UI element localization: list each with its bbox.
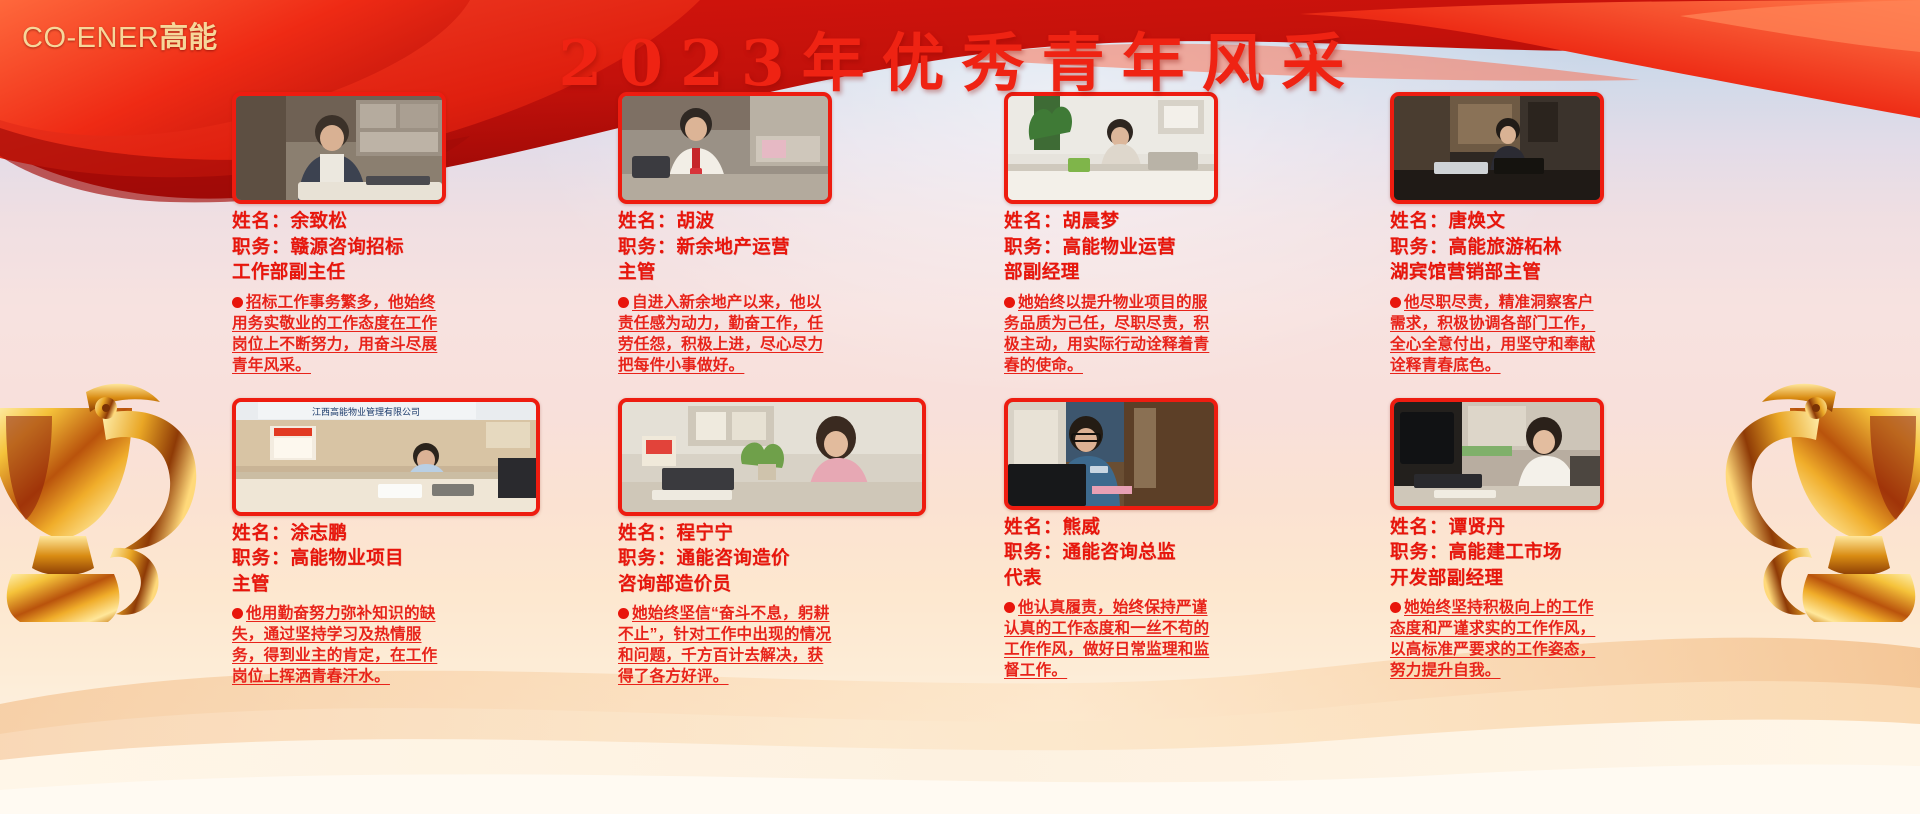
profile-meta: 姓名：胡波 职务：新余地产运营 主管 自进入新余地产以来，他以责任感为动力，勤奋… bbox=[618, 208, 918, 376]
profile-position-line-1: 职务：通能咨询造价 bbox=[618, 545, 918, 571]
profile-name: 胡波 bbox=[677, 210, 715, 231]
profile-position-part-1: 高能旅游柘林 bbox=[1449, 236, 1562, 257]
profile-card: 姓名：熊威 职务：通能咨询总监 代表 他认真履责，始终保持严谨认真的工作态度和一… bbox=[1004, 398, 1304, 688]
profile-description-text: 她始终坚持积极向上的工作态度和严谨求实的工作作风，以高标准严要求的工作姿态，努力… bbox=[1390, 599, 1595, 679]
profile-photo bbox=[618, 92, 832, 204]
profile-name-line: 姓名：谭贤丹 bbox=[1390, 514, 1690, 540]
profile-name: 谭贤丹 bbox=[1449, 516, 1506, 537]
profile-position-line-2: 代表 bbox=[1004, 565, 1304, 591]
bullet-icon bbox=[1390, 297, 1401, 308]
profile-position-line-2: 咨询部造价员 bbox=[618, 571, 918, 597]
profile-card: 姓名：胡晨梦 职务：高能物业运营 部副经理 她始终以提升物业项目的服务品质为己任… bbox=[1004, 92, 1304, 376]
position-label: 职务： bbox=[232, 236, 291, 257]
profile-position-part-1: 新余地产运营 bbox=[677, 236, 790, 257]
name-label: 姓名： bbox=[618, 522, 677, 543]
profile-card: 姓名：胡波 职务：新余地产运营 主管 自进入新余地产以来，他以责任感为动力，勤奋… bbox=[618, 92, 918, 376]
profile-card: 姓名：谭贤丹 职务：高能建工市场 开发部副经理 她始终坚持积极向上的工作态度和严… bbox=[1390, 398, 1690, 688]
profile-meta: 姓名：胡晨梦 职务：高能物业运营 部副经理 她始终以提升物业项目的服务品质为己任… bbox=[1004, 208, 1304, 376]
bullet-icon bbox=[232, 608, 243, 619]
profile-name: 熊威 bbox=[1063, 516, 1101, 537]
profile-photo bbox=[618, 398, 926, 516]
page-title: 2023年优秀青年风采 bbox=[0, 13, 1920, 104]
position-label: 职务： bbox=[1390, 541, 1449, 562]
trophy-left-icon bbox=[0, 330, 212, 635]
profile-position-line-2: 部副经理 bbox=[1004, 259, 1304, 285]
profile-description: 她始终坚信“奋斗不息，躬耕不止”，针对工作中出现的情况和问题，千方百计去解决，获… bbox=[618, 603, 836, 687]
profile-name-line: 姓名：程宁宁 bbox=[618, 520, 918, 546]
profile-name: 余致松 bbox=[291, 210, 348, 231]
profile-position-part-1: 通能咨询造价 bbox=[677, 547, 790, 568]
profile-position-part-1: 高能建工市场 bbox=[1449, 541, 1562, 562]
profile-description-text: 她始终坚信“奋斗不息，躬耕不止”，针对工作中出现的情况和问题，千方百计去解决，获… bbox=[618, 605, 831, 685]
profile-meta: 姓名：余致松 职务：赣源咨询招标 工作部副主任 招标工作事务繁多，他始终用务实敬… bbox=[232, 208, 532, 376]
profile-name-line: 姓名：余致松 bbox=[232, 208, 532, 234]
profile-position-part-1: 赣源咨询招标 bbox=[291, 236, 404, 257]
profile-name-line: 姓名：胡波 bbox=[618, 208, 918, 234]
profile-position-line-2: 开发部副经理 bbox=[1390, 565, 1690, 591]
bullet-icon bbox=[232, 297, 243, 308]
profile-meta: 姓名：涂志鹏 职务：高能物业项目 主管 他用勤奋努力弥补知识的缺失，通过坚持学习… bbox=[232, 520, 532, 688]
profile-position-line-2: 湖宾馆营销部主管 bbox=[1390, 259, 1690, 285]
profile-position-line-1: 职务：赣源咨询招标 bbox=[232, 234, 532, 260]
profile-photo: 江西高能物业管理有限公司 bbox=[232, 398, 540, 516]
brand-logo-latin: CO-ENER bbox=[22, 22, 159, 54]
profile-photo bbox=[1390, 398, 1604, 510]
position-label: 职务： bbox=[618, 236, 677, 257]
profile-description: 她始终以提升物业项目的服务品质为己任，尽职尽责，积极主动，用实际行动诠释着青春的… bbox=[1004, 292, 1222, 376]
name-label: 姓名： bbox=[232, 522, 291, 543]
profile-description: 他认真履责，始终保持严谨认真的工作态度和一丝不苟的工作作风，做好日常监理和监督工… bbox=[1004, 597, 1222, 681]
profile-position-part-1: 通能咨询总监 bbox=[1063, 541, 1176, 562]
name-label: 姓名： bbox=[1004, 210, 1063, 231]
profile-photo bbox=[1390, 92, 1604, 204]
profile-meta: 姓名：程宁宁 职务：通能咨询造价 咨询部造价员 她始终坚信“奋斗不息，躬耕不止”… bbox=[618, 520, 918, 688]
profile-name-line: 姓名：熊威 bbox=[1004, 514, 1304, 540]
position-label: 职务： bbox=[1004, 236, 1063, 257]
brand-logo: CO-ENER高能 bbox=[22, 14, 217, 56]
profile-description-text: 他用勤奋努力弥补知识的缺失，通过坚持学习及热情服务，得到业主的肯定，在工作岗位上… bbox=[232, 605, 437, 685]
profile-photo bbox=[1004, 398, 1218, 510]
profile-description: 招标工作事务繁多，他始终用务实敬业的工作态度在工作岗位上不断努力，用奋斗尽展青年… bbox=[232, 292, 450, 376]
profile-photo bbox=[232, 92, 446, 204]
profile-position-line-2: 工作部副主任 bbox=[232, 259, 532, 285]
profile-position-line-2: 主管 bbox=[232, 571, 532, 597]
profile-name: 胡晨梦 bbox=[1063, 210, 1120, 231]
profile-position-line-1: 职务：新余地产运营 bbox=[618, 234, 918, 260]
profile-meta: 姓名：谭贤丹 职务：高能建工市场 开发部副经理 她始终坚持积极向上的工作态度和严… bbox=[1390, 514, 1690, 682]
bullet-icon bbox=[618, 297, 629, 308]
profile-description-text: 自进入新余地产以来，他以责任感为动力，勤奋工作，任劳任怨，积极上进，尽心尽力把每… bbox=[618, 294, 823, 374]
profile-meta: 姓名：唐焕文 职务：高能旅游柘林 湖宾馆营销部主管 他尽职尽责，精准洞察客户需求… bbox=[1390, 208, 1690, 376]
profile-position-line-1: 职务：高能物业项目 bbox=[232, 545, 532, 571]
name-label: 姓名： bbox=[618, 210, 677, 231]
profile-position-part-1: 高能物业项目 bbox=[291, 547, 404, 568]
profile-description-text: 他尽职尽责，精准洞察客户需求，积极协调各部门工作，全心全意付出，用坚守和奉献诠释… bbox=[1390, 294, 1595, 374]
name-label: 姓名： bbox=[232, 210, 291, 231]
profile-card: 姓名：程宁宁 职务：通能咨询造价 咨询部造价员 她始终坚信“奋斗不息，躬耕不止”… bbox=[618, 398, 918, 688]
position-label: 职务： bbox=[1004, 541, 1063, 562]
name-label: 姓名： bbox=[1390, 210, 1449, 231]
bullet-icon bbox=[1004, 297, 1015, 308]
bullet-icon bbox=[1004, 602, 1015, 613]
position-label: 职务： bbox=[232, 547, 291, 568]
profile-position-line-2: 主管 bbox=[618, 259, 918, 285]
name-label: 姓名： bbox=[1004, 516, 1063, 537]
profile-description: 他尽职尽责，精准洞察客户需求，积极协调各部门工作，全心全意付出，用坚守和奉献诠释… bbox=[1390, 292, 1608, 376]
trophy-right-icon bbox=[1710, 330, 1920, 635]
profile-name: 程宁宁 bbox=[677, 522, 734, 543]
profile-description-text: 她始终以提升物业项目的服务品质为己任，尽职尽责，积极主动，用实际行动诠释着青春的… bbox=[1004, 294, 1209, 374]
profile-description-text: 他认真履责，始终保持严谨认真的工作态度和一丝不苟的工作作风，做好日常监理和监督工… bbox=[1004, 599, 1209, 679]
poster-canvas: CO-ENER高能 2023年优秀青年风采 bbox=[0, 0, 1920, 814]
profile-card: 江西高能物业管理有限公司 姓名 bbox=[232, 398, 532, 688]
profile-photo bbox=[1004, 92, 1218, 204]
profile-name: 唐焕文 bbox=[1449, 210, 1506, 231]
profile-position-part-1: 高能物业运营 bbox=[1063, 236, 1176, 257]
brand-logo-cn: 高能 bbox=[159, 22, 217, 54]
profile-position-line-1: 职务：高能建工市场 bbox=[1390, 539, 1690, 565]
profile-name-line: 姓名：唐焕文 bbox=[1390, 208, 1690, 234]
profile-name-line: 姓名：胡晨梦 bbox=[1004, 208, 1304, 234]
profile-description: 他用勤奋努力弥补知识的缺失，通过坚持学习及热情服务，得到业主的肯定，在工作岗位上… bbox=[232, 603, 450, 687]
profile-description: 自进入新余地产以来，他以责任感为动力，勤奋工作，任劳任怨，积极上进，尽心尽力把每… bbox=[618, 292, 836, 376]
profile-card: 姓名：余致松 职务：赣源咨询招标 工作部副主任 招标工作事务繁多，他始终用务实敬… bbox=[232, 92, 532, 376]
profile-meta: 姓名：熊威 职务：通能咨询总监 代表 他认真履责，始终保持严谨认真的工作态度和一… bbox=[1004, 514, 1304, 682]
profile-card: 姓名：唐焕文 职务：高能旅游柘林 湖宾馆营销部主管 他尽职尽责，精准洞察客户需求… bbox=[1390, 92, 1690, 376]
profile-description-text: 招标工作事务繁多，他始终用务实敬业的工作态度在工作岗位上不断努力，用奋斗尽展青年… bbox=[232, 294, 437, 374]
position-label: 职务： bbox=[618, 547, 677, 568]
profile-position-line-1: 职务：通能咨询总监 bbox=[1004, 539, 1304, 565]
bullet-icon bbox=[618, 608, 629, 619]
position-label: 职务： bbox=[1390, 236, 1449, 257]
profile-name-line: 姓名：涂志鹏 bbox=[232, 520, 532, 546]
profile-description: 她始终坚持积极向上的工作态度和严谨求实的工作作风，以高标准严要求的工作姿态，努力… bbox=[1390, 597, 1608, 681]
profile-name: 涂志鹏 bbox=[291, 522, 348, 543]
profile-position-line-1: 职务：高能物业运营 bbox=[1004, 234, 1304, 260]
profile-card-grid: 姓名：余致松 职务：赣源咨询招标 工作部副主任 招标工作事务繁多，他始终用务实敬… bbox=[232, 92, 1692, 687]
bullet-icon bbox=[1390, 602, 1401, 613]
svg-text:江西高能物业管理有限公司: 江西高能物业管理有限公司 bbox=[312, 406, 420, 418]
name-label: 姓名： bbox=[1390, 516, 1449, 537]
profile-position-line-1: 职务：高能旅游柘林 bbox=[1390, 234, 1690, 260]
